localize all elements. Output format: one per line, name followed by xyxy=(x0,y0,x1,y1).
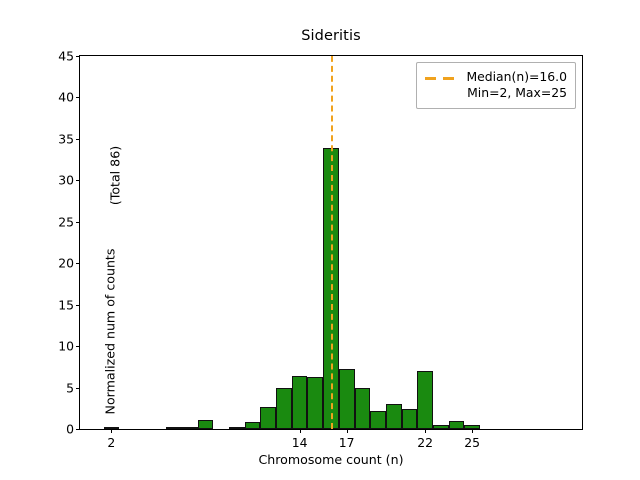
y-axis-total-label: (Total 86) xyxy=(108,131,123,221)
bar xyxy=(433,425,449,429)
y-tick-mark xyxy=(76,180,80,181)
y-tick-label: 20 xyxy=(58,256,74,271)
bar xyxy=(355,388,371,429)
chart-axes: 051015202530354045 214172225 Normalized … xyxy=(79,55,583,430)
y-tick-label: 5 xyxy=(66,380,74,395)
y-tick-mark xyxy=(76,305,80,306)
chart-figure: Sideritis 051015202530354045 214172225 N… xyxy=(0,0,640,480)
x-tick-label: 14 xyxy=(292,435,308,450)
x-tick-label: 25 xyxy=(464,435,480,450)
y-tick-mark xyxy=(76,388,80,389)
bar xyxy=(402,409,418,429)
y-tick-label: 10 xyxy=(58,339,74,354)
bar xyxy=(449,421,465,429)
bar xyxy=(182,427,198,429)
x-tick-mark xyxy=(472,429,473,433)
bar xyxy=(245,422,261,429)
y-tick-label: 15 xyxy=(58,297,74,312)
bar xyxy=(307,377,323,429)
y-tick-label: 25 xyxy=(58,214,74,229)
bar xyxy=(166,427,182,429)
y-axis-label: Normalized num of counts xyxy=(103,227,118,437)
y-tick-label: 35 xyxy=(58,131,74,146)
bar xyxy=(386,404,402,429)
bar xyxy=(292,376,308,429)
x-tick-mark xyxy=(347,429,348,433)
dashed-line-icon xyxy=(425,72,458,86)
x-tick-mark xyxy=(300,429,301,433)
bar xyxy=(260,407,276,429)
y-tick-label: 30 xyxy=(58,173,74,188)
x-tick-mark xyxy=(425,429,426,433)
y-tick-label: 0 xyxy=(66,422,74,437)
y-tick-mark xyxy=(76,139,80,140)
bar xyxy=(198,420,214,429)
plot-area xyxy=(80,56,582,429)
y-tick-label: 45 xyxy=(58,49,74,64)
bar xyxy=(276,388,292,429)
legend-entry-minmax: Min=2, Max=25 xyxy=(466,85,567,101)
chart-legend: Median(n)=16.0 Min=2, Max=25 xyxy=(416,62,576,109)
legend-entry-median: Median(n)=16.0 xyxy=(466,69,567,85)
bar xyxy=(229,427,245,429)
x-tick-label: 22 xyxy=(417,435,433,450)
x-tick-label: 17 xyxy=(339,435,355,450)
y-tick-mark xyxy=(76,346,80,347)
y-tick-mark xyxy=(76,222,80,223)
median-line xyxy=(331,56,333,429)
y-tick-mark xyxy=(76,263,80,264)
page-title: Sideritis xyxy=(79,28,583,44)
y-tick-mark xyxy=(76,429,80,430)
bar xyxy=(370,411,386,429)
y-tick-mark xyxy=(76,97,80,98)
bar xyxy=(339,369,355,430)
x-axis-label: Chromosome count (n) xyxy=(79,452,583,467)
bar xyxy=(417,371,433,429)
x-tick-label: 2 xyxy=(107,435,115,450)
legend-entries: Median(n)=16.0 Min=2, Max=25 xyxy=(466,69,567,101)
y-tick-mark xyxy=(76,56,80,57)
y-tick-label: 40 xyxy=(58,90,74,105)
